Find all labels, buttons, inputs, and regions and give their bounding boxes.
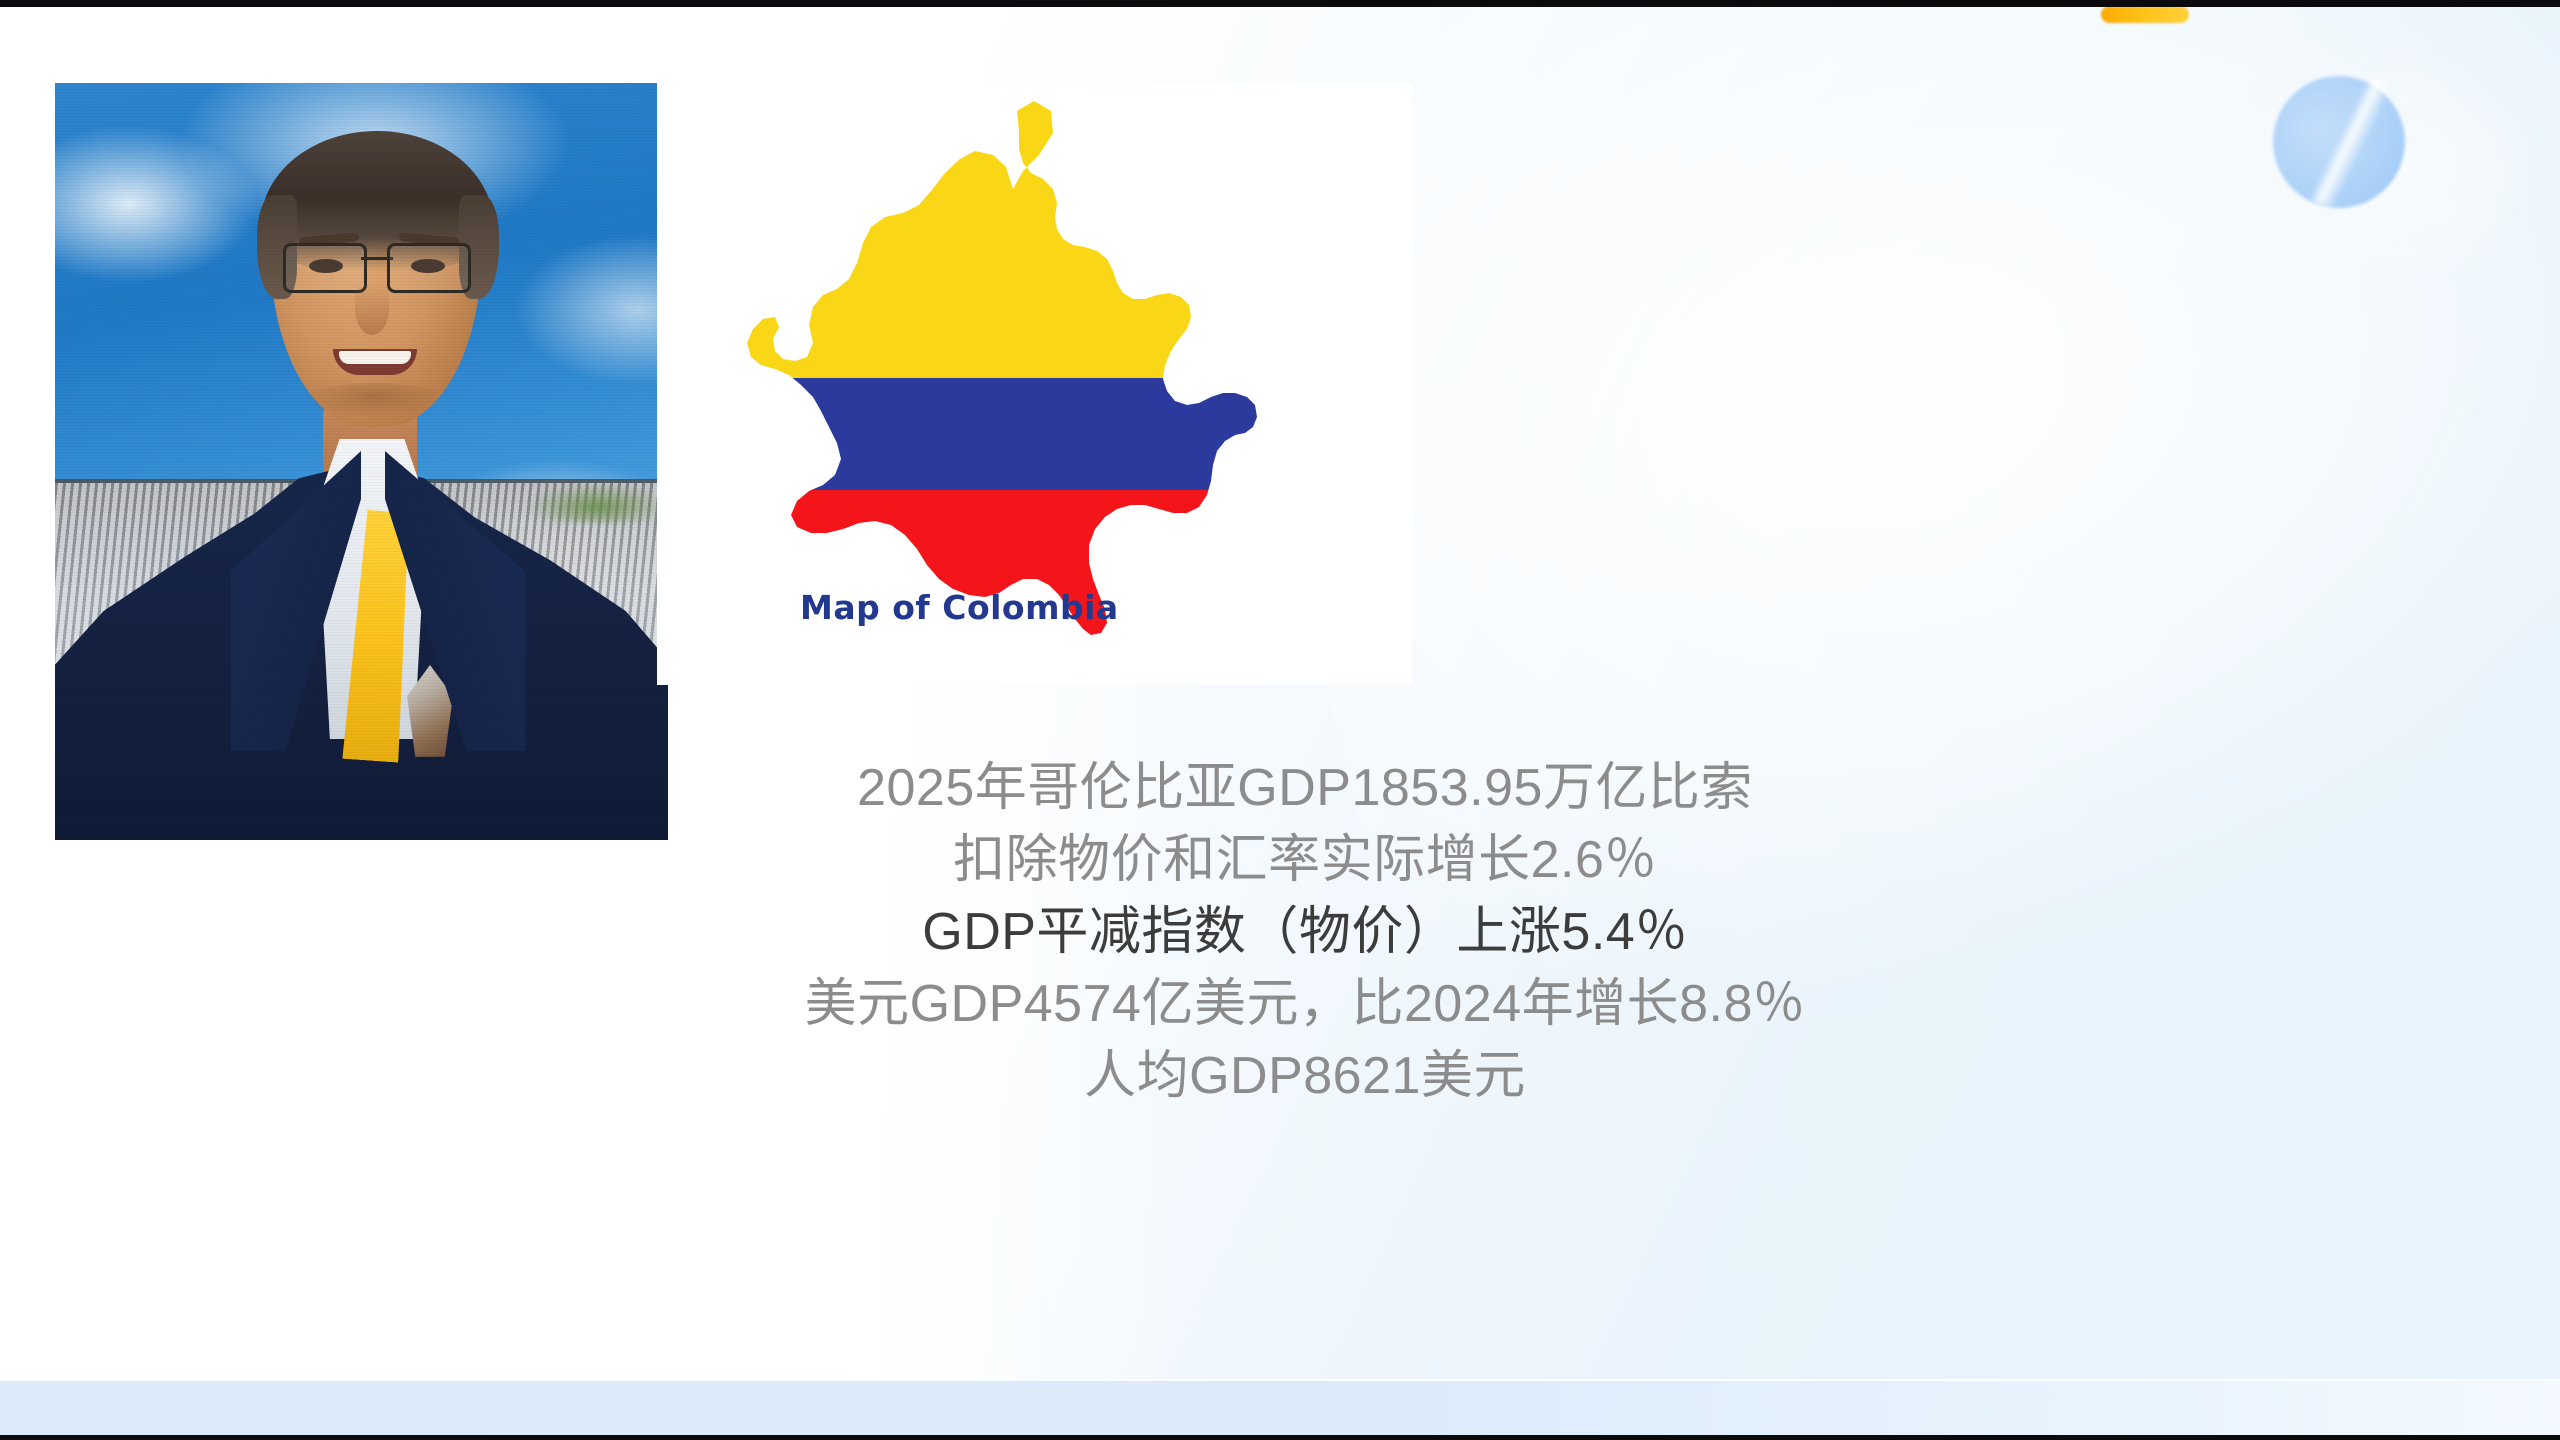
portrait-mouth xyxy=(333,349,417,375)
portrait-greenery xyxy=(525,483,668,523)
text-line-3: GDP平减指数（物价）上涨5.4％ xyxy=(640,896,1970,968)
orange-pill-icon xyxy=(2101,6,2189,23)
president-portrait-photo xyxy=(55,83,668,840)
top-black-strip xyxy=(0,0,2560,7)
portrait-chin-shadow xyxy=(305,383,445,417)
bottom-black-strip xyxy=(0,1435,2560,1440)
slide-canvas: Map of Colombia 2025年哥伦比亚GDP1853.95万亿比索 … xyxy=(0,0,2560,1440)
map-caption: Map of Colombia xyxy=(800,588,1119,627)
colombia-map-icon xyxy=(717,93,1317,653)
text-line-4: 美元GDP4574亿美元，比2024年增长8.8％ xyxy=(640,968,1970,1040)
portrait-nose xyxy=(355,283,389,335)
colombia-map-card: Map of Colombia xyxy=(657,83,1412,685)
bottom-band xyxy=(0,1381,2560,1435)
portrait-teeth xyxy=(339,351,411,364)
gdp-text-block: 2025年哥伦比亚GDP1853.95万亿比索 扣除物价和汇率实际增长2.6％ … xyxy=(640,752,1970,1112)
text-line-2: 扣除物价和汇率实际增长2.6％ xyxy=(640,824,1970,896)
text-line-5: 人均GDP8621美元 xyxy=(640,1040,1970,1112)
eyeglass-lens-right xyxy=(387,243,471,293)
text-line-1: 2025年哥伦比亚GDP1853.95万亿比索 xyxy=(640,752,1970,824)
